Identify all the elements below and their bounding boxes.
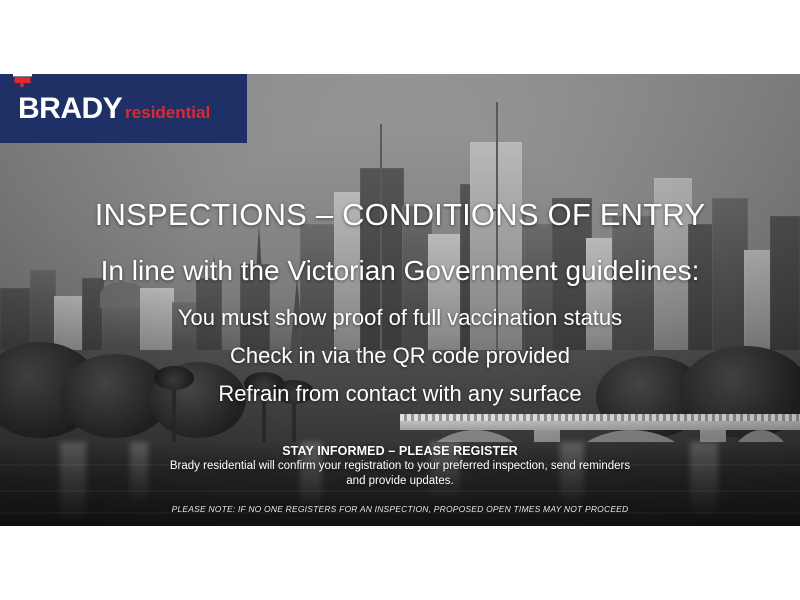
roof-building-icon <box>13 74 32 87</box>
logo-residential-text: residential <box>125 104 210 121</box>
register-body-line-1: Brady residential will confirm your regi… <box>0 459 800 474</box>
condition-item-3: Refrain from contact with any surface <box>0 381 800 407</box>
register-body: Brady residential will confirm your regi… <box>0 459 800 489</box>
subheadline: In line with the Victorian Government gu… <box>0 255 800 287</box>
headline: INSPECTIONS – CONDITIONS OF ENTRY <box>0 197 800 233</box>
register-body-line-2: and provide updates. <box>0 474 800 489</box>
condition-item-2: Check in via the QR code provided <box>0 343 800 369</box>
brady-logo-banner[interactable]: BRADY residential <box>0 74 247 143</box>
disclaimer-note: PLEASE NOTE: IF NO ONE REGISTERS FOR AN … <box>0 504 800 514</box>
register-title: STAY INFORMED – PLEASE REGISTER <box>0 444 800 458</box>
poster-page: BRADY residential INSPECTIONS – CONDITIO… <box>0 0 800 600</box>
logo-brady-text: BRADY <box>18 94 122 124</box>
condition-item-1: You must show proof of full vaccination … <box>0 305 800 331</box>
